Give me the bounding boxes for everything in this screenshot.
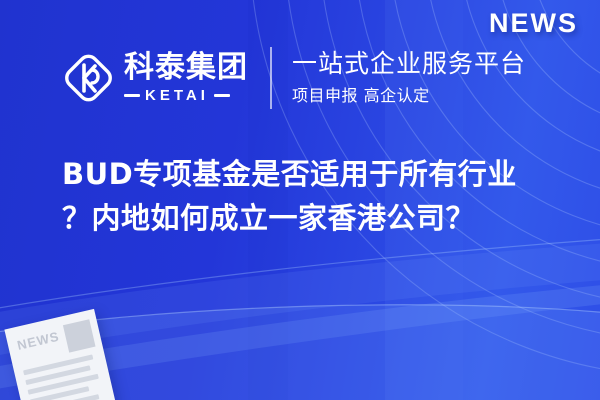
newspaper-thumbnail [63, 319, 96, 352]
brand-row: 科泰集团 KETAI 一站式企业服务平台 项目申报 高企认定 [62, 44, 526, 112]
headline-line-1: BUD专项基金是否适用于所有行业 [62, 152, 560, 196]
logo-wordmark: 科泰集团 KETAI [124, 52, 248, 104]
ketai-diamond-monogram-icon [62, 50, 116, 106]
newspaper-text-lines [23, 354, 106, 400]
page-title: BUD专项基金是否适用于所有行业 ？内地如何成立一家香港公司？ [62, 152, 560, 240]
newspaper-title: NEWS [15, 327, 61, 353]
tagline-main: 一站式企业服务平台 [292, 50, 526, 79]
logo-company-name-en-row: KETAI [124, 87, 248, 104]
tagline-sub: 项目申报 高企认定 [292, 82, 526, 106]
brand-divider [270, 47, 272, 109]
logo-dash-right-icon [214, 94, 230, 97]
logo-company-name-cn: 科泰集团 [124, 52, 248, 84]
news-banner: NEWS 科泰集团 KETAI 一站式企业服务平台 项目申报 高企认定 B [0, 0, 600, 400]
logo-company-name-en: KETAI [145, 87, 209, 104]
tagline-block: 一站式企业服务平台 项目申报 高企认定 [292, 50, 526, 107]
headline-line-2: ？内地如何成立一家香港公司？ [62, 196, 560, 240]
news-label: NEWS [489, 8, 578, 39]
logo-dash-left-icon [124, 94, 140, 97]
